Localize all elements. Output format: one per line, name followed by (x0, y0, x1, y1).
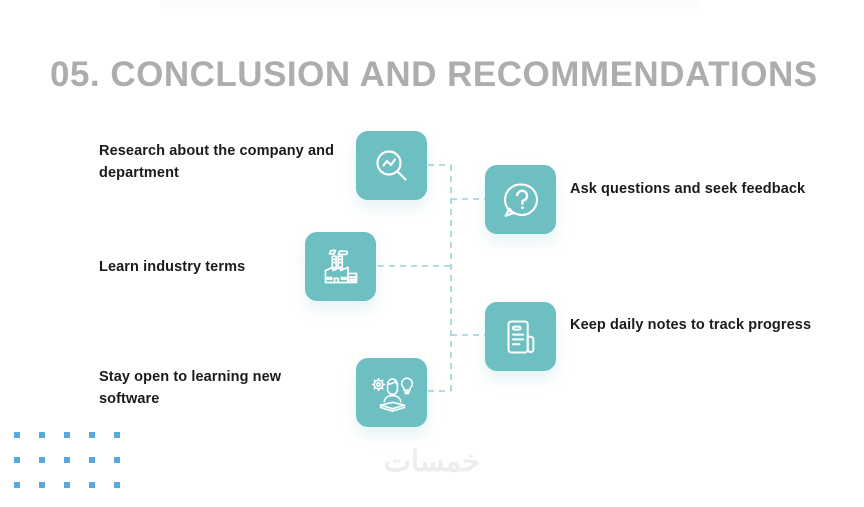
recommendations-diagram: Research about the company and departmen… (0, 0, 864, 484)
slide-canvas: 05. CONCLUSION AND RECOMMENDATIONS (0, 0, 864, 484)
magnifier-chart-icon (372, 146, 412, 186)
node-tile-learning[interactable] (356, 358, 427, 427)
node-label-notes: Keep daily notes to track progress (570, 314, 820, 336)
node-tile-notes[interactable] (485, 302, 556, 371)
document-notes-icon (501, 317, 541, 357)
node-tile-research[interactable] (356, 131, 427, 200)
node-label-learning: Stay open to learning new software (99, 366, 344, 411)
person-gear-bulb-book-icon (370, 372, 414, 414)
speech-bubble-question-icon (501, 180, 541, 220)
node-label-industry: Learn industry terms (99, 256, 344, 278)
node-tile-questions[interactable] (485, 165, 556, 234)
watermark-text: خمسات (0, 444, 864, 479)
connector-lines (0, 0, 864, 484)
node-label-questions: Ask questions and seek feedback (570, 178, 820, 200)
node-label-research: Research about the company and departmen… (99, 140, 344, 185)
